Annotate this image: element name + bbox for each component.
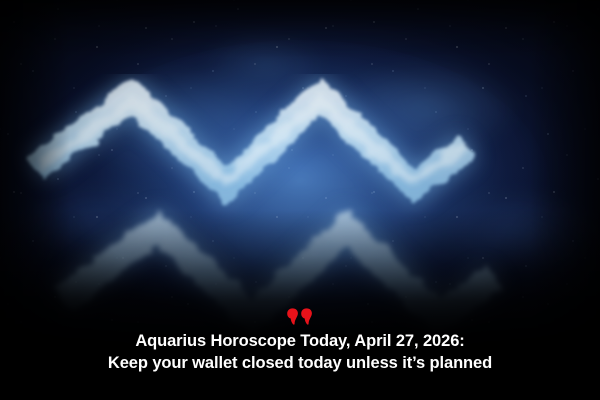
top-fade-overlay bbox=[0, 0, 600, 58]
double-quote-icon bbox=[287, 308, 313, 325]
headline-line-2: Keep your wallet closed today unless it’… bbox=[12, 352, 588, 374]
horoscope-card: Aquarius Horoscope Today, April 27, 2026… bbox=[0, 0, 600, 400]
caption-block: Aquarius Horoscope Today, April 27, 2026… bbox=[0, 308, 600, 374]
headline-line-1: Aquarius Horoscope Today, April 27, 2026… bbox=[12, 330, 588, 352]
page-title: Aquarius Horoscope Today, April 27, 2026… bbox=[0, 330, 600, 374]
